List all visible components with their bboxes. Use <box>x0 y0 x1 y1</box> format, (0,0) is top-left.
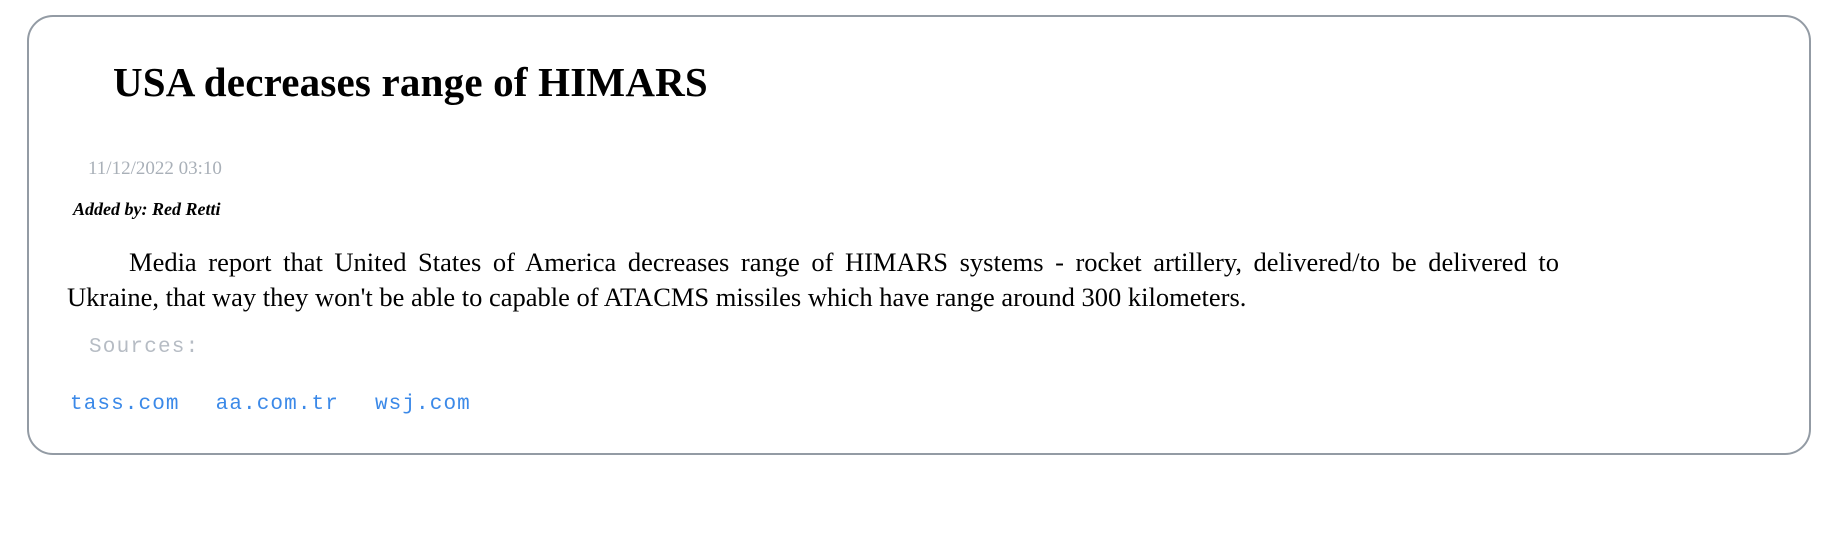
news-article-card: USA decreases range of HIMARS 11/12/2022… <box>27 15 1811 455</box>
page-root: USA decreases range of HIMARS 11/12/2022… <box>0 0 1840 560</box>
sources-label: Sources: <box>89 335 199 361</box>
source-link-tass[interactable]: tass.com <box>70 392 180 418</box>
article-timestamp: 11/12/2022 03:10 <box>88 157 222 181</box>
sources-link-list: tass.com aa.com.tr wsj.com <box>70 392 471 418</box>
article-body-text: Media report that United States of Ameri… <box>67 245 1559 315</box>
source-link-wsj[interactable]: wsj.com <box>375 392 471 418</box>
page-title: USA decreases range of HIMARS <box>113 58 708 106</box>
news-article-card-inner: USA decreases range of HIMARS 11/12/2022… <box>29 17 1809 453</box>
article-byline: Added by: Red Retti <box>73 198 220 220</box>
source-link-aa[interactable]: aa.com.tr <box>216 392 339 418</box>
